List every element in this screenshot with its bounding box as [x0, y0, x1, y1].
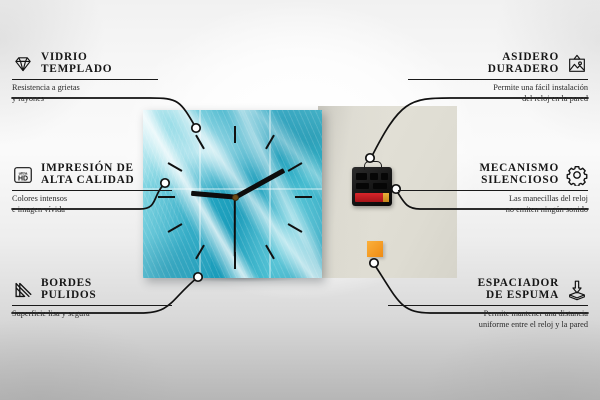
- feature-divider: [12, 305, 172, 306]
- infographic-canvas: VIDRIO TEMPLADO Resistencia a grietas y …: [0, 0, 600, 400]
- feature-description: Resistencia a grietas y rayones: [12, 83, 192, 105]
- feature-divider: [12, 190, 172, 191]
- feature-description: Las manecillas del reloj no emiten ningú…: [368, 194, 588, 216]
- connector-dot-right-1: [366, 154, 374, 162]
- feature-title-line2: DE ESPUMA: [486, 290, 559, 302]
- connector-right-1: [370, 98, 588, 160]
- feature-title-line2: ALTA CALIDAD: [41, 175, 134, 187]
- foam-spacer-arrow-icon: [566, 279, 588, 301]
- connector-dot-right-3: [370, 259, 378, 267]
- connector-dot-left-1: [192, 124, 200, 132]
- svg-text:HD: HD: [18, 175, 28, 182]
- feature-vidrio-templado: VIDRIO TEMPLADO Resistencia a grietas y …: [12, 52, 192, 105]
- wall-hanger-frame-icon: [566, 53, 588, 75]
- feature-divider: [12, 79, 158, 80]
- feature-description: Superficie lisa y segura: [12, 309, 202, 320]
- polished-edges-icon: [12, 279, 34, 301]
- feature-mecanismo-silencioso: MECANISMO SILENCIOSO Las manecillas del …: [368, 163, 588, 216]
- feature-divider: [408, 79, 588, 80]
- feature-title-line2: PULIDOS: [41, 290, 96, 302]
- feature-description: Permite mantener una distancia uniforme …: [358, 309, 588, 331]
- feature-divider: [398, 190, 588, 191]
- feature-title-line2: DURADERO: [488, 64, 559, 76]
- feature-description: Permite una fácil instalación del reloj …: [368, 83, 588, 105]
- feature-bordes-pulidos: BORDES PULIDOS Superficie lisa y segura: [12, 278, 202, 320]
- gear-icon: [566, 164, 588, 186]
- feature-asidero-duradero: ASIDERO DURADERO Permite una fácil insta…: [368, 52, 588, 105]
- feature-divider: [388, 305, 588, 306]
- feature-impresion-alta-calidad: ultra HD IMPRESIÓN DE ALTA CALIDAD Color…: [12, 163, 202, 216]
- feature-espaciador-de-espuma: ESPACIADOR DE ESPUMA Permite mantener un…: [358, 278, 588, 331]
- ultra-hd-badge-icon: ultra HD: [12, 164, 34, 186]
- feature-title-line2: TEMPLADO: [41, 64, 112, 76]
- feature-description: Colores intensos e imagen vívida: [12, 194, 202, 216]
- diamond-icon: [12, 53, 34, 75]
- feature-title-line2: SILENCIOSO: [481, 175, 559, 187]
